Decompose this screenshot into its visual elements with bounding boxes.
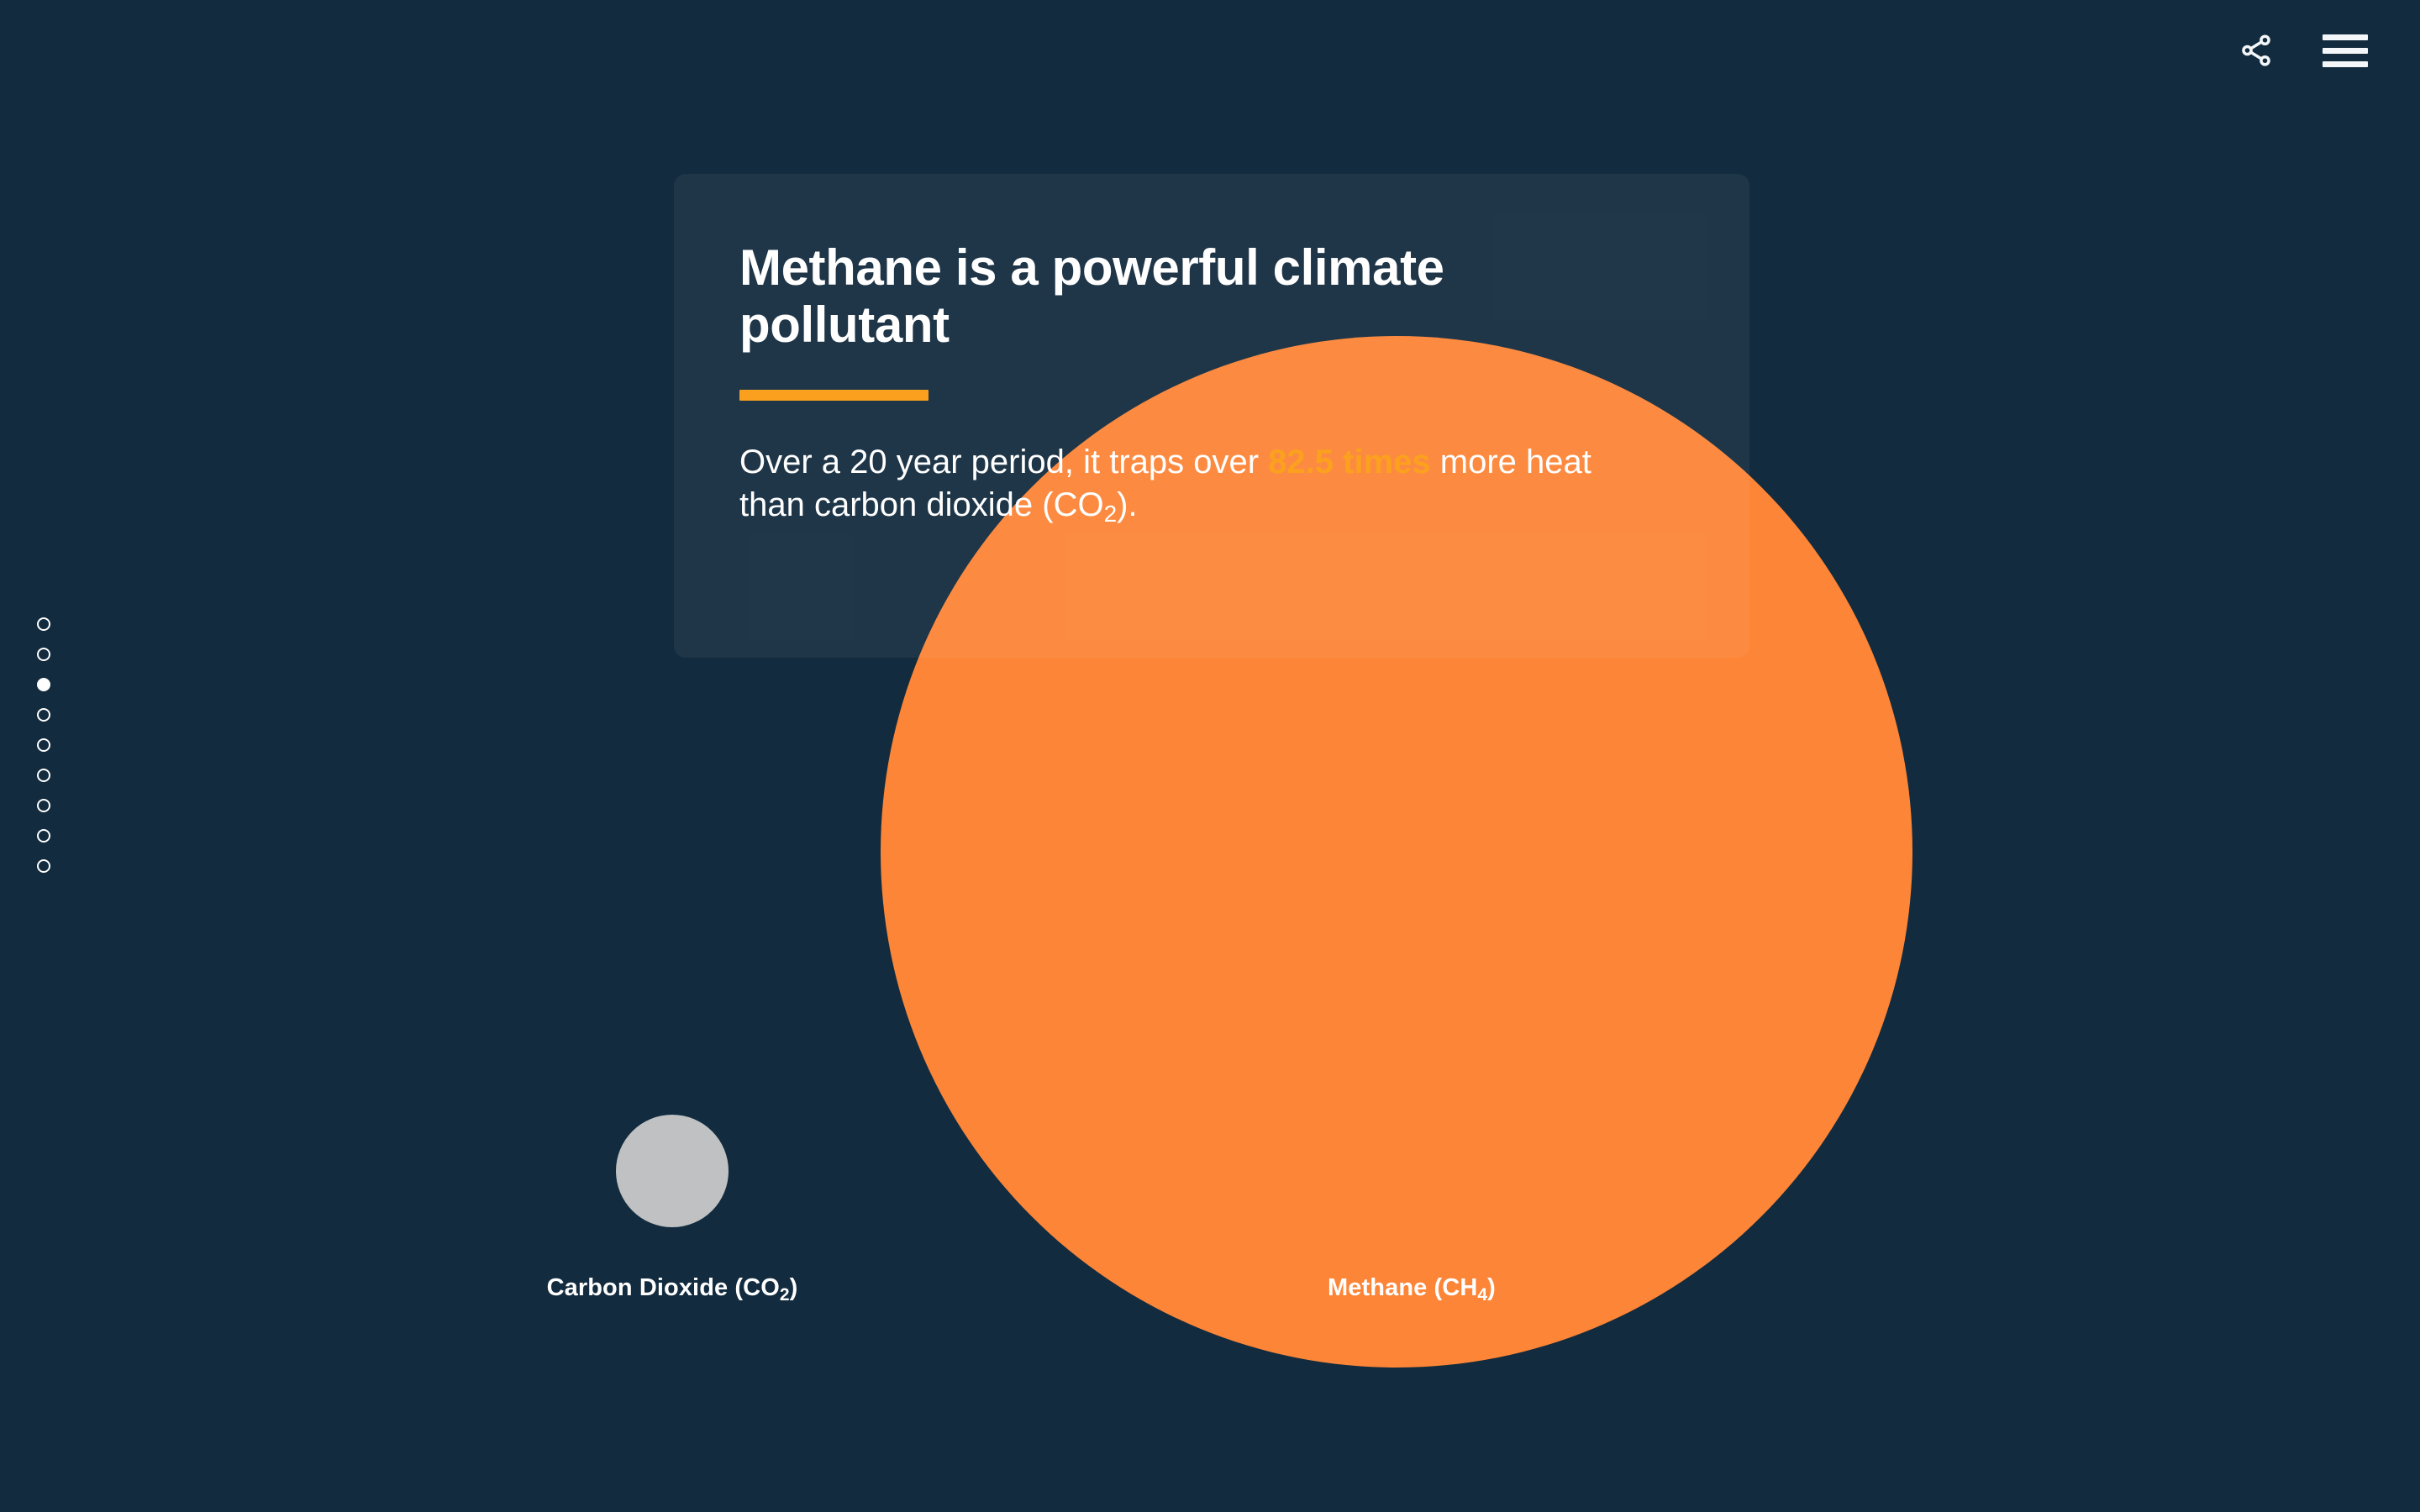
- accent-divider: [739, 390, 929, 401]
- carbon-dioxide-label-sub: 2: [780, 1285, 790, 1305]
- card-title: Methane is a powerful climate pollutant: [739, 239, 1588, 354]
- card-body: Over a 20 year period, it traps over 82.…: [739, 441, 1630, 527]
- slide-dot-1[interactable]: [37, 617, 50, 631]
- info-card: Methane is a powerful climate pollutant …: [674, 174, 1749, 658]
- infographic-slide: Methane is a powerful climate pollutant …: [0, 0, 2420, 1512]
- card-body-highlight: 82.5 times: [1268, 444, 1430, 480]
- card-body-suffix-b: ).: [1117, 486, 1137, 523]
- slide-dot-6[interactable]: [37, 769, 50, 782]
- slide-dot-4[interactable]: [37, 708, 50, 722]
- hamburger-bar-3: [2323, 61, 2368, 67]
- carbon-dioxide-bubble: [616, 1115, 729, 1227]
- methane-label: Methane (CH4): [1227, 1274, 1597, 1302]
- methane-label-main: Methane (CH: [1328, 1274, 1477, 1301]
- slide-dot-9[interactable]: [37, 859, 50, 873]
- slide-dot-7[interactable]: [37, 799, 50, 812]
- methane-label-tail: ): [1487, 1274, 1496, 1301]
- slide-dot-2[interactable]: [37, 648, 50, 661]
- carbon-dioxide-label: Carbon Dioxide (CO2): [504, 1274, 840, 1302]
- card-body-prefix: Over a 20 year period, it traps over: [739, 444, 1268, 480]
- share-icon: [2238, 33, 2274, 68]
- hamburger-bar-1: [2323, 34, 2368, 40]
- methane-label-sub: 4: [1477, 1285, 1487, 1305]
- carbon-dioxide-label-tail: ): [790, 1274, 798, 1301]
- carbon-dioxide-label-main: Carbon Dioxide (CO: [547, 1274, 780, 1301]
- slide-dot-3[interactable]: [37, 678, 50, 691]
- slide-dot-8[interactable]: [37, 829, 50, 843]
- slide-dot-navigation[interactable]: [37, 617, 50, 873]
- top-controls: [2067, 0, 2420, 101]
- slide-dot-5[interactable]: [37, 738, 50, 752]
- share-button[interactable]: [2230, 24, 2282, 76]
- card-body-subscript: 2: [1104, 501, 1118, 527]
- hamburger-bar-2: [2323, 48, 2368, 54]
- hamburger-menu-icon: [2323, 34, 2368, 67]
- menu-button[interactable]: [2319, 24, 2371, 76]
